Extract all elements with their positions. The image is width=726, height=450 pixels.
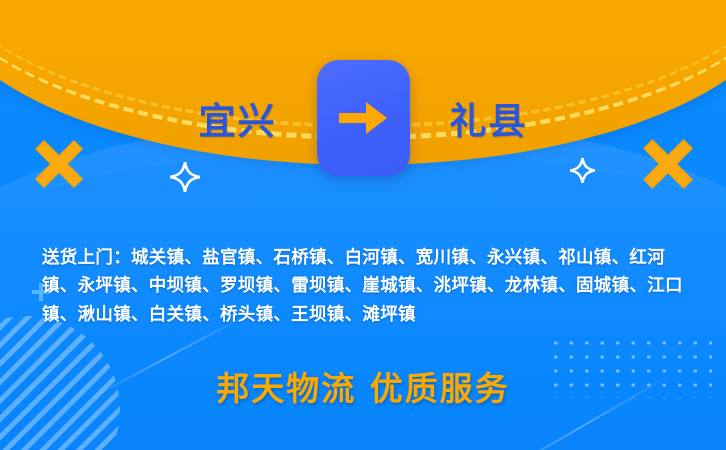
origin-city: 宜兴 [199, 91, 277, 145]
route-arrow-box [317, 60, 410, 176]
logistics-route-banner: 宜兴 礼县 送货上门：城关镇、盐官镇、石桥镇、白河镇、宽川镇、永兴镇、祁山镇、红… [0, 0, 726, 450]
destination-city: 礼县 [450, 91, 528, 145]
arrow-right-icon [337, 98, 389, 138]
company-slogan: 邦天物流 优质服务 [0, 362, 726, 410]
route-row: 宜兴 礼县 [0, 60, 726, 176]
delivery-town-list: 送货上门：城关镇、盐官镇、石桥镇、白河镇、宽川镇、永兴镇、祁山镇、红河镇、永坪镇… [42, 244, 692, 329]
